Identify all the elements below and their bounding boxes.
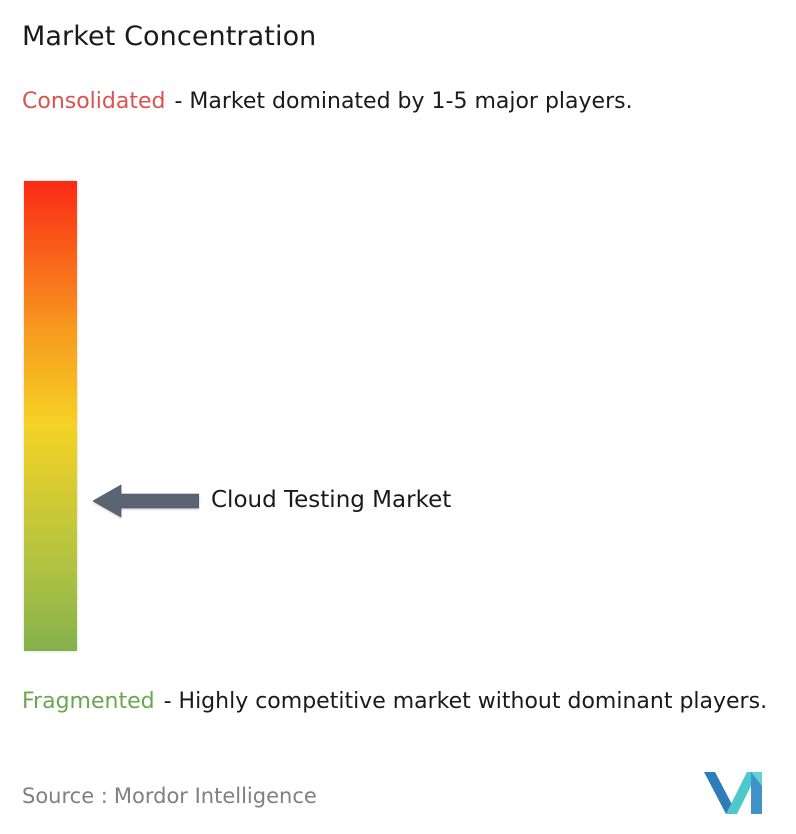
legend-term-consolidated: Consolidated	[22, 89, 165, 114]
legend-consolidated: Consolidated- Market dominated by 1-5 ma…	[22, 86, 774, 118]
source-value: Mordor Intelligence	[114, 784, 317, 808]
market-concentration-scale	[24, 181, 77, 651]
source-label: Source :	[22, 784, 108, 808]
gradient-bar	[24, 181, 77, 651]
legend-term-fragmented: Fragmented	[22, 689, 155, 714]
legend-description-consolidated: - Market dominated by 1-5 major players.	[174, 89, 632, 114]
mordor-intelligence-logo	[704, 768, 768, 818]
left-arrow-icon	[93, 483, 199, 519]
market-pointer-annotation: Cloud Testing Market	[93, 483, 451, 519]
pointer-label: Cloud Testing Market	[211, 485, 451, 517]
source-attribution: Source :Mordor Intelligence	[22, 782, 317, 810]
legend-fragmented: Fragmented- Highly competitive market wi…	[22, 686, 784, 718]
page-title: Market Concentration	[22, 20, 316, 54]
legend-description-fragmented: - Highly competitive market without domi…	[164, 689, 767, 714]
